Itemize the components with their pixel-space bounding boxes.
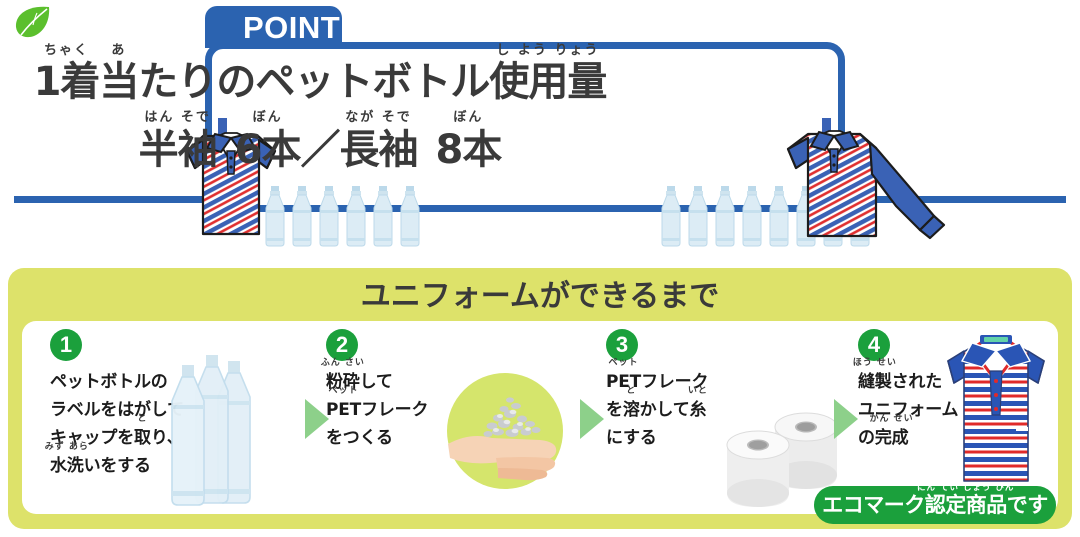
pet-bottle-icon [397, 186, 423, 248]
point-title: ちゃく1着あ当たりのペットボトルし よう りょう使用量 [0, 60, 640, 104]
step-1-line-1: ペットボトルの [50, 368, 184, 396]
title-seg-3: たりのペットボトル [138, 60, 489, 104]
ruby-chaku: ちゃく [44, 44, 89, 57]
step-3-line-2: をと溶かしていと糸 [606, 396, 708, 424]
ruby-hansode: はん そで [144, 111, 211, 124]
step-1-text: ペットボトルの ラベルをはがして キャップをと取り、 みず あら水洗いをする [50, 368, 184, 480]
short-sleeve-count: ぼん6本 [235, 127, 301, 173]
subtitle-separator: ／ [301, 127, 340, 173]
pet-bottle-icon [370, 186, 396, 248]
pet-bottle-icon [316, 186, 342, 248]
infographic-page: POINT ちゃく1着あ当たりのペットボトルし よう りょう使用量 はん そで半… [0, 0, 1080, 537]
process-step-2: 2 ふん さい粉砕して ペットPETフレーク をつくる [312, 321, 562, 514]
short-sleeve-label: はん そで半袖 [139, 127, 217, 173]
pet-bottle-icon [712, 186, 738, 248]
point-tab-label: POINT [243, 10, 340, 46]
long-sleeve-polo-shirt-icon [772, 118, 962, 242]
step-1-line-4: みず あら水洗いをする [50, 452, 184, 480]
finished-polo-shirt-illustration [932, 331, 1060, 489]
ruby-shiyouryou: し よう りょう [496, 44, 599, 57]
ruby-nagasode: なが そで [345, 111, 412, 124]
process-step-1: 1 ペットボトルの ラベルをはがして キャップをと取り、 みず あら水洗いをする [36, 321, 286, 514]
ruby-bon-2: ぼん [453, 111, 483, 124]
point-subtitle: はん そで半袖ぼん6本／なが そで長袖ぼん8本 [0, 127, 640, 173]
long-sleeve-count: ぼん8本 [436, 127, 502, 173]
ruby-nin-tei-shou-hin: にん てい しょう ひん [917, 482, 1014, 495]
ruby-housei: ほう せい [853, 357, 897, 370]
ruby-kansei: かん せい [870, 413, 914, 426]
step-2-line-3: をつくる [326, 424, 428, 452]
ruby-bon-1: ぼん [253, 111, 283, 124]
hand-with-pet-flakes-illustration [440, 366, 570, 496]
step-number-badge: 1 [50, 329, 82, 361]
leaf-icon [13, 5, 53, 39]
title-seg-4: し よう りょう使用量 [489, 60, 606, 104]
ruby-a: あ [111, 44, 126, 57]
ruby-mizuarai: みず あら [45, 441, 89, 454]
ruby-funsai: ふん さい [321, 357, 365, 370]
ruby-to: と [137, 413, 147, 426]
process-step-3: 3 ペットPETフレーク をと溶かしていと糸 にする [592, 321, 842, 514]
step-2-line-2: ペットPETフレーク [326, 396, 428, 424]
ruby-ito: いと [688, 385, 708, 398]
ruby-to-2: と [626, 385, 636, 398]
title-seg-2: あ当 [99, 60, 138, 104]
step-2-text: ふん さい粉砕して ペットPETフレーク をつくる [326, 368, 428, 452]
long-sleeve-label: なが そで長袖 [340, 127, 418, 173]
pet-bottle-icon [685, 186, 711, 248]
ruby-pet-2: ペット [609, 357, 639, 370]
pet-bottle-icon [343, 186, 369, 248]
title-seg-1: ちゃく1着 [34, 60, 100, 104]
point-tab: POINT [205, 6, 342, 48]
eco-mark-badge[interactable]: エコマークにん てい しょう ひん認定商品です [814, 486, 1056, 524]
ruby-pet-1: ペット [329, 385, 359, 398]
process-header: ユニフォームができるまで [8, 276, 1072, 318]
step-3-line-3: にする [606, 424, 708, 452]
eco-mark-badge-label: エコマークにん てい しょう ひん認定商品です [822, 492, 1048, 518]
step-1-line-2: ラベルをはがして [50, 396, 184, 424]
point-section: POINT ちゃく1着あ当たりのペットボトルし よう りょう使用量 はん そで半… [0, 0, 1080, 258]
step-3-text: ペットPETフレーク をと溶かしていと糸 にする [606, 368, 708, 452]
pet-bottle-icon [739, 186, 765, 248]
pet-bottle-icon [658, 186, 684, 248]
pet-bottles-illustration [166, 351, 281, 511]
